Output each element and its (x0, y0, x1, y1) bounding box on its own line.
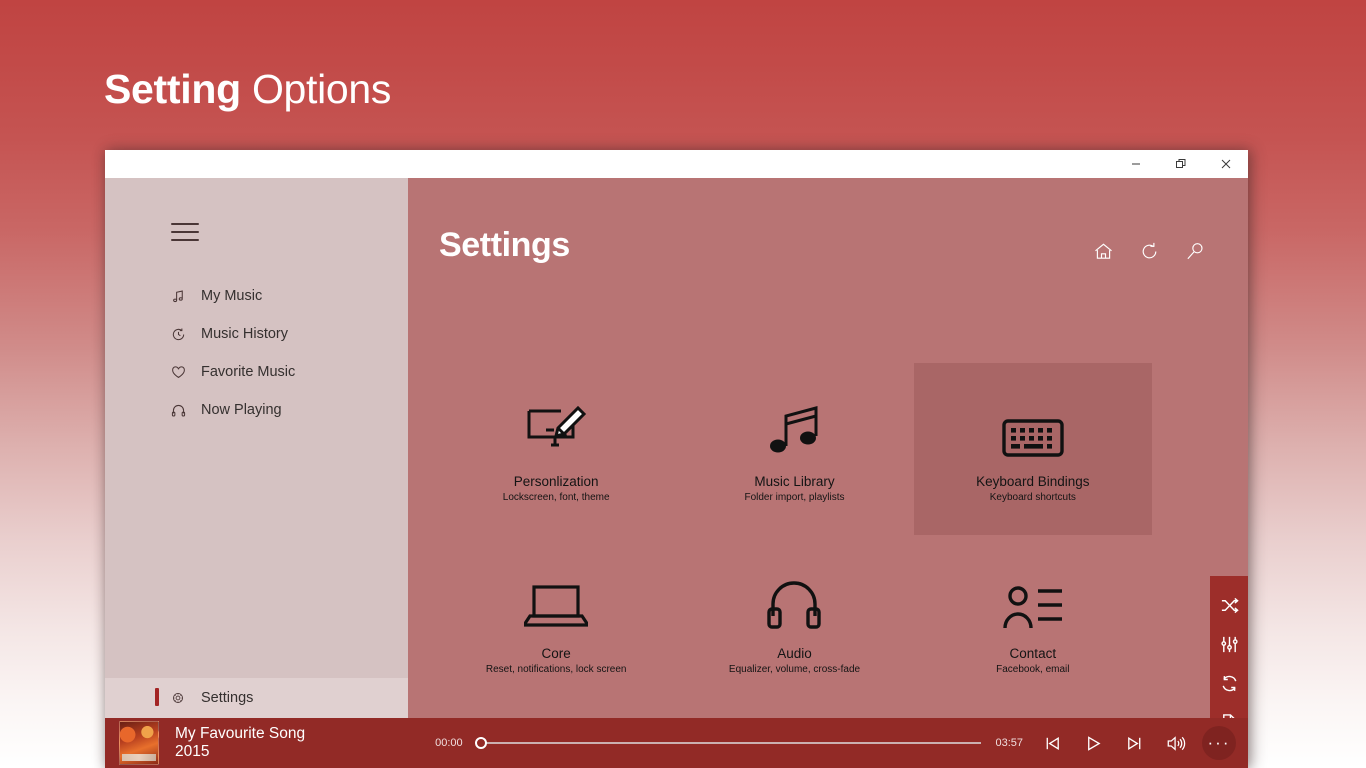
sidebar-item-favorite-music[interactable]: Favorite Music (105, 353, 408, 391)
tile-audio[interactable]: Audio Equalizer, volume, cross-fade (675, 535, 913, 707)
volume-button[interactable] (1166, 734, 1186, 753)
repeat-icon[interactable] (1210, 664, 1248, 703)
tile-description: Folder import, playlists (744, 492, 844, 503)
monitor-brush-icon (525, 400, 587, 460)
tile-description: Facebook, email (996, 664, 1069, 675)
more-options-button[interactable]: ··· (1202, 726, 1236, 760)
elapsed-time: 00:00 (435, 737, 463, 749)
sidebar-nav: My Music Music History (105, 277, 408, 429)
app-body: My Music Music History (105, 178, 1248, 718)
tile-description: Equalizer, volume, cross-fade (729, 664, 860, 675)
tile-description: Keyboard shortcuts (990, 492, 1076, 503)
seek-rail (485, 742, 982, 744)
tile-contact[interactable]: Contact Facebook, email (914, 535, 1152, 707)
duration-time: 03:57 (995, 737, 1023, 749)
next-button[interactable] (1125, 734, 1144, 753)
tile-description: Lockscreen, font, theme (503, 492, 610, 503)
previous-button[interactable] (1043, 734, 1062, 753)
sidebar-item-label: Favorite Music (201, 364, 295, 380)
tile-title: Core (542, 646, 571, 661)
player-bar: My Favourite Song 2015 00:00 03:57 (105, 718, 1248, 768)
tile-keyboard-bindings[interactable]: Keyboard Bindings Keyboard shortcuts (914, 363, 1152, 535)
minimize-button[interactable] (1113, 150, 1158, 178)
sidebar-item-label: Music History (201, 326, 288, 342)
history-clock-icon (171, 327, 193, 342)
tile-music-library[interactable]: Music Library Folder import, playlists (675, 363, 913, 535)
tile-description: Reset, notifications, lock screen (486, 664, 627, 675)
sidebar-bottom: Settings (105, 678, 408, 718)
seek-bar[interactable] (475, 735, 982, 751)
window-titlebar (105, 150, 1248, 178)
page-title: Setting Options (104, 66, 391, 113)
heart-icon (171, 365, 193, 380)
track-title: My Favourite Song (175, 725, 305, 743)
laptop-icon (524, 572, 588, 632)
app-window: My Music Music History (105, 150, 1248, 768)
page-title-normal: Options (252, 66, 391, 112)
keyboard-icon (1001, 400, 1065, 460)
page-title-bold: Setting (104, 66, 241, 112)
contact-list-icon (1001, 572, 1065, 632)
double-note-icon (766, 400, 822, 460)
headphones-icon (171, 403, 193, 418)
sidebar-item-music-history[interactable]: Music History (105, 315, 408, 353)
file-upload-icon[interactable] (1210, 703, 1248, 718)
sidebar-item-label: My Music (201, 288, 262, 304)
seek-handle[interactable] (475, 737, 487, 749)
headphones-icon (766, 572, 822, 632)
tile-title: Music Library (754, 474, 834, 489)
shuffle-icon[interactable] (1210, 586, 1248, 625)
gear-icon (171, 691, 193, 705)
settings-tile-grid: Personlization Lockscreen, font, theme M… (437, 363, 1152, 707)
equalizer-icon[interactable] (1210, 625, 1248, 664)
tile-title: Audio (777, 646, 812, 661)
sidebar-item-settings[interactable]: Settings (105, 678, 408, 718)
main-content: Settings (408, 178, 1248, 718)
page-heading: Settings (439, 226, 570, 265)
active-indicator (155, 688, 159, 706)
music-note-icon (171, 289, 193, 304)
track-year: 2015 (175, 743, 305, 761)
sidebar-item-label: Settings (201, 690, 253, 706)
hamburger-icon[interactable] (171, 223, 199, 241)
sidebar-item-my-music[interactable]: My Music (105, 277, 408, 315)
restore-button[interactable] (1158, 150, 1203, 178)
tile-title: Keyboard Bindings (976, 474, 1089, 489)
side-toolbar (1210, 576, 1248, 718)
close-button[interactable] (1203, 150, 1248, 178)
tile-personlization[interactable]: Personlization Lockscreen, font, theme (437, 363, 675, 535)
tile-title: Personlization (514, 474, 599, 489)
track-meta: My Favourite Song 2015 (175, 725, 305, 762)
tile-title: Contact (1010, 646, 1057, 661)
header-actions (1090, 227, 1208, 265)
home-icon[interactable] (1090, 239, 1116, 265)
sidebar-item-now-playing[interactable]: Now Playing (105, 391, 408, 429)
album-art (119, 721, 159, 765)
sidebar-item-label: Now Playing (201, 402, 282, 418)
search-icon[interactable] (1182, 239, 1208, 265)
refresh-icon[interactable] (1136, 239, 1162, 265)
tile-core[interactable]: Core Reset, notifications, lock screen (437, 535, 675, 707)
sidebar: My Music Music History (105, 178, 408, 718)
playback-controls (1043, 734, 1186, 753)
play-button[interactable] (1084, 734, 1103, 753)
content-header: Settings (408, 178, 1248, 265)
